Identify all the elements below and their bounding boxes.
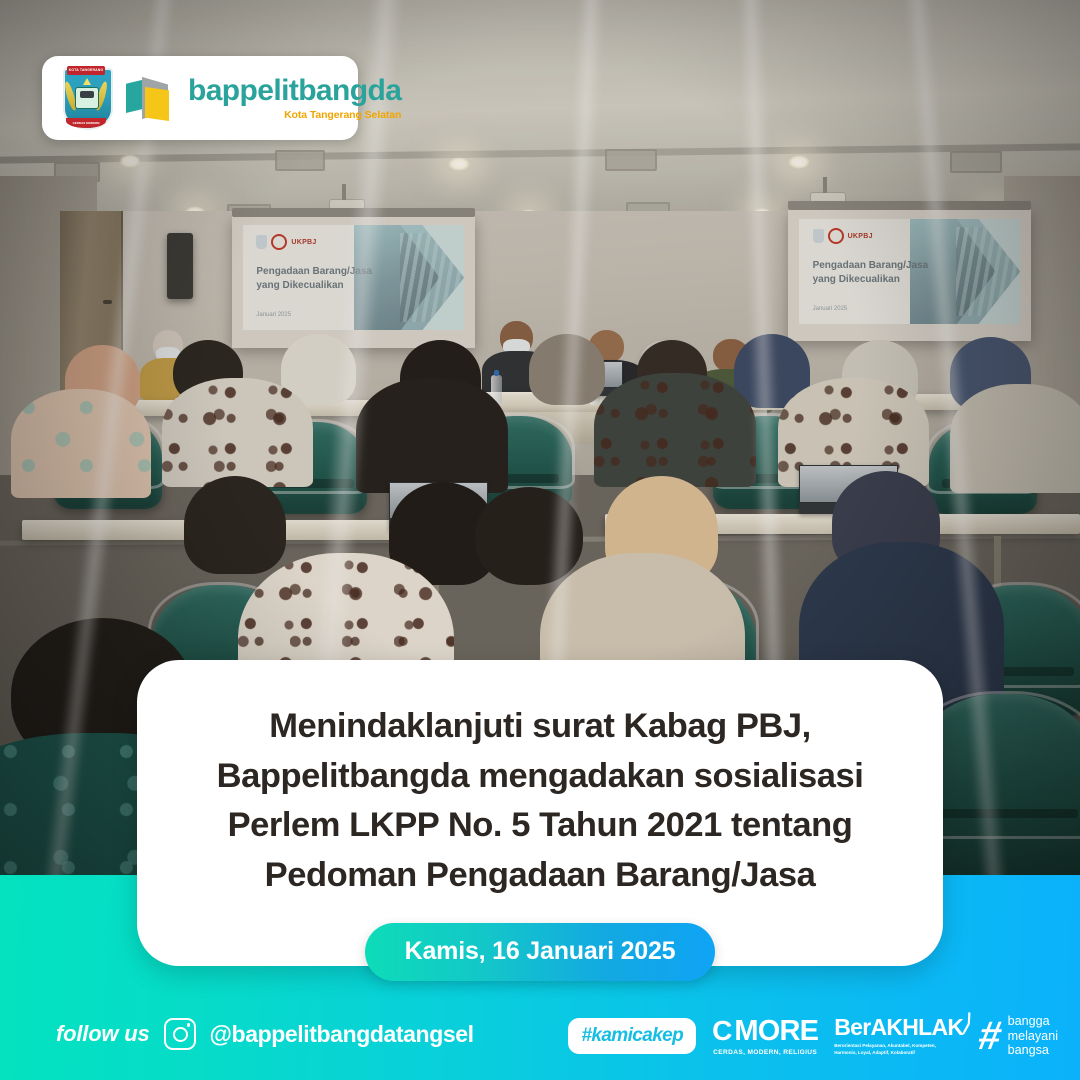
screen-mount (232, 208, 475, 217)
screen-mount (788, 201, 1031, 210)
attendee-body (950, 384, 1080, 493)
brand-badge: KOTA TANGERANG SELATAN CERDAS MODERN REL… (42, 56, 358, 140)
berakhlak-logo: BerAKHLAK ⟩ Berorientasi Pelayanan, Akun… (834, 1016, 963, 1057)
slide-title: Pengadaan Barang/Jasa yang Dikecualikan (813, 259, 937, 288)
slide-logo-text: UKPBJ (848, 233, 873, 240)
attendee-body (11, 389, 151, 498)
crest-emblem (75, 87, 99, 109)
headline-line: Pedoman Pengadaan Barang/Jasa (163, 851, 917, 901)
wall-speaker (167, 233, 193, 299)
announcement-card: Menindaklanjuti surat Kabag PBJ, Bappeli… (137, 660, 943, 966)
headline-line: Perlem LKPP No. 5 Tahun 2021 tentang (163, 801, 917, 851)
slide-title: Pengadaan Barang/Jasa yang Dikecualikan (256, 265, 380, 294)
slide-logo: UKPBJ (256, 234, 316, 250)
follow-us-group: follow us @bappelitbangdatangsel (56, 1018, 474, 1050)
crest-star-icon (83, 78, 91, 85)
bangga-line: bangga (1008, 1014, 1058, 1029)
partner-logos: #kamicakep C MORE CERDAS, MODERN, RELIGI… (568, 1014, 1058, 1058)
attendee-body (162, 378, 313, 487)
cmore-tagline: CERDAS, MODERN, RELIGIUS (713, 1049, 817, 1056)
berakhlak-tagline: Berorientasi Pelayanan, Akuntabel, Kompe… (834, 1043, 946, 1057)
brand-name: bappelitbangda (188, 76, 401, 106)
projector-screen-left: UKPBJ Pengadaan Barang/Jasa yang Dikecua… (232, 216, 475, 348)
presentation-slide: UKPBJ Pengadaan Barang/Jasa yang Dikecua… (799, 219, 1020, 325)
headline-line: Bappelitbangda mengadakan sosialisasi (163, 752, 917, 802)
kamicakep-logo: #kamicakep (568, 1018, 696, 1054)
slide-ring-icon (828, 228, 844, 244)
ceiling-vent (275, 150, 325, 171)
slide-date: Januari 2025 (256, 312, 291, 318)
bappelitbangda-mark-icon (126, 71, 176, 125)
projector-screen-right: UKPBJ Pengadaan Barang/Jasa yang Dikecua… (788, 209, 1031, 341)
cmore-wordmark: C MORE (712, 1017, 818, 1046)
slide-logo-text: UKPBJ (291, 239, 316, 246)
cmore-name: MORE (734, 1017, 818, 1046)
bangga-words: bangga melayani bangsa (1008, 1014, 1058, 1058)
hashtag-icon: # (976, 1020, 1004, 1053)
ceiling-light (119, 154, 141, 168)
presentation-slide: UKPBJ Pengadaan Barang/Jasa yang Dikecua… (243, 225, 464, 331)
ceiling-vent (950, 151, 1002, 173)
slide-crest-icon (813, 229, 824, 243)
social-media-poster: UKPBJ Pengadaan Barang/Jasa yang Dikecua… (0, 0, 1080, 1080)
instagram-handle[interactable]: @bappelitbangdatangsel (210, 1021, 474, 1048)
cmore-c-glyph: C (712, 1017, 732, 1045)
brand-subtitle: Kota Tangerang Selatan (188, 109, 401, 121)
attendee-body (356, 378, 507, 493)
ceiling-vent (605, 149, 657, 171)
bangga-line: melayani (1008, 1029, 1058, 1044)
bangga-melayani-bangsa-logo: # bangga melayani bangsa (979, 1014, 1058, 1058)
berakhlak-name: BerAKHLAK (834, 1016, 963, 1039)
city-crest-icon: KOTA TANGERANG SELATAN CERDAS MODERN REL… (58, 65, 114, 131)
slide-date: Januari 2025 (813, 306, 848, 312)
attendee-head (184, 476, 287, 574)
headline-line: Menindaklanjuti surat Kabag PBJ, (163, 702, 917, 752)
follow-us-label: follow us (56, 1021, 150, 1047)
brand-wordmark: bappelitbangda Kota Tangerang Selatan (188, 76, 401, 121)
instagram-icon[interactable] (164, 1018, 196, 1050)
mark-yellow-shape (145, 87, 169, 121)
ceiling-light (448, 157, 470, 171)
date-badge: Kamis, 16 Januari 2025 (365, 923, 716, 981)
slide-ring-icon (271, 234, 287, 250)
attendee-head (475, 487, 583, 585)
attendee-body (594, 373, 756, 488)
crest-top-banner: KOTA TANGERANG SELATAN (67, 66, 105, 75)
headline: Menindaklanjuti surat Kabag PBJ, Bappeli… (137, 702, 943, 901)
slide-crest-icon (256, 235, 267, 249)
cmore-logo: C MORE CERDAS, MODERN, RELIGIUS (712, 1017, 818, 1056)
slide-logo: UKPBJ (813, 228, 873, 244)
kamicakep-label: #kamicakep (581, 1025, 683, 1046)
attendee-head (529, 334, 605, 405)
bangga-line: bangsa (1008, 1043, 1058, 1058)
